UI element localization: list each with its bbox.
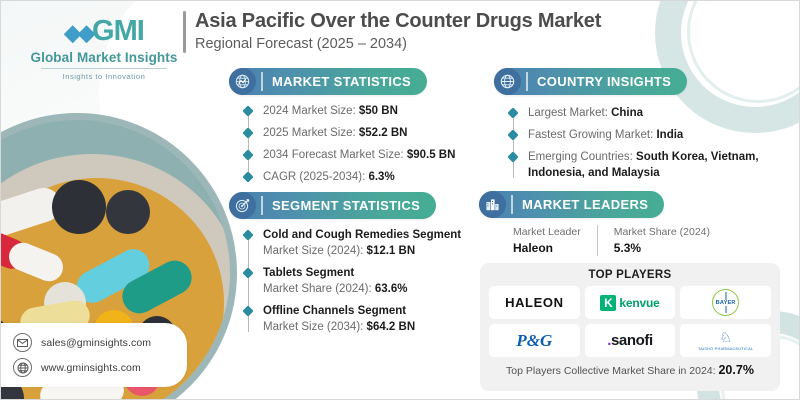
list-item: Fastest Growing Market: India bbox=[509, 127, 775, 143]
player-name-kenvue: kenvue bbox=[619, 296, 659, 310]
badge-separator bbox=[511, 195, 513, 214]
contact-email-row[interactable]: sales@gminsights.com bbox=[13, 330, 187, 355]
section-label-country-insights: COUNTRY INSIGHTS bbox=[537, 74, 671, 89]
country-insights-list: Largest Market: China Fastest Growing Ma… bbox=[509, 105, 775, 187]
segment-heading: Cold and Cough Remedies Segment bbox=[263, 227, 474, 243]
market-leaders-table: Market Leader Haleon Market Share (2024)… bbox=[513, 225, 726, 256]
stat-value: $90.5 BN bbox=[407, 149, 456, 161]
globe-icon bbox=[494, 68, 521, 95]
list-item: 2025 Market Size: $52.2 BN bbox=[244, 125, 494, 141]
list-item: Largest Market: China bbox=[509, 105, 775, 121]
top-players-title: TOP PLAYERS bbox=[489, 269, 771, 281]
stat-label: 2034 Forecast Market Size: bbox=[263, 149, 407, 161]
section-badge-market-statistics: MARKET STATISTICS bbox=[229, 68, 427, 95]
segment-heading: Tablets Segment bbox=[263, 265, 474, 281]
player-name-bayer: BAYER bbox=[715, 300, 737, 306]
section-label-segment-statistics: SEGMENT STATISTICS bbox=[272, 198, 420, 213]
top-players-footer: Top Players Collective Market Share in 2… bbox=[489, 363, 771, 377]
collective-share-label: Top Players Collective Market Share in 2… bbox=[506, 365, 718, 377]
section-badge-country-insights: COUNTRY INSIGHTS bbox=[494, 68, 687, 95]
page-title: Asia Pacific Over the Counter Drugs Mark… bbox=[195, 10, 601, 33]
stat-label: 2024 Market Size: bbox=[263, 105, 359, 117]
badge-separator bbox=[526, 72, 528, 91]
bayer-cross-icon: BAYER bbox=[712, 289, 739, 316]
player-logo-haleon[interactable]: HALEON bbox=[489, 286, 580, 319]
stat-value: $50 BN bbox=[359, 105, 398, 117]
globe-icon bbox=[13, 358, 32, 377]
segment-value: 63.6% bbox=[375, 283, 408, 295]
decorative-ring-top-right-inner bbox=[687, 0, 800, 103]
list-item: Offline Channels Segment Market Size (20… bbox=[244, 303, 474, 335]
list-item: Tablets Segment Market Share (2024): 63.… bbox=[244, 265, 474, 297]
section-badge-segment-statistics: SEGMENT STATISTICS bbox=[229, 192, 436, 219]
target-segment-icon bbox=[229, 192, 256, 219]
player-logo-pg[interactable]: P&G bbox=[489, 324, 580, 357]
country-value: China bbox=[611, 107, 643, 119]
segment-heading: Offline Channels Segment bbox=[263, 303, 474, 319]
stat-value: 6.3% bbox=[368, 171, 394, 183]
logo-tagline: Insights to Innovation bbox=[19, 72, 189, 81]
contact-strip: sales@gminsights.com www.gminsights.com bbox=[1, 323, 187, 387]
list-item: CAGR (2025-2034): 6.3% bbox=[244, 169, 494, 185]
list-item: 2034 Forecast Market Size: $90.5 BN bbox=[244, 147, 494, 163]
taisho-wings-icon: ♘ bbox=[719, 329, 732, 345]
logo-mark: ◆◆GMI bbox=[19, 17, 189, 46]
contact-website-text: www.gminsights.com bbox=[41, 362, 141, 374]
player-logo-sanofi[interactable]: .sanofi bbox=[585, 324, 676, 357]
list-item: 2024 Market Size: $50 BN bbox=[244, 103, 494, 119]
market-leader-value: Haleon bbox=[513, 240, 581, 256]
company-logo: ◆◆GMI Global Market Insights Insights to… bbox=[19, 17, 189, 81]
segment-value: $12.1 BN bbox=[367, 245, 416, 257]
logo-diamond-icon: ◆◆ bbox=[64, 20, 92, 45]
top-players-panel: TOP PLAYERS HALEON K kenvue BAYER P&G .s… bbox=[480, 263, 780, 391]
segment-value: $64.2 BN bbox=[367, 321, 416, 333]
contact-email-text: sales@gminsights.com bbox=[41, 337, 151, 349]
market-share-header: Market Share (2024) bbox=[614, 225, 710, 240]
envelope-icon bbox=[13, 333, 32, 352]
top-players-grid: HALEON K kenvue BAYER P&G .sanofi bbox=[489, 286, 771, 357]
country-label: Largest Market: bbox=[528, 107, 611, 119]
badge-separator bbox=[261, 196, 263, 215]
market-statistics-list: 2024 Market Size: $50 BN 2025 Market Siz… bbox=[244, 103, 494, 191]
market-share-column: Market Share (2024) 5.3% bbox=[597, 225, 726, 256]
stat-label: 2025 Market Size: bbox=[263, 127, 359, 139]
kenvue-mark-icon: K bbox=[600, 295, 616, 311]
city-buildings-icon bbox=[479, 191, 506, 218]
country-value: India bbox=[656, 129, 683, 141]
market-leader-column: Market Leader Haleon bbox=[513, 225, 597, 256]
player-name-haleon: HALEON bbox=[505, 295, 564, 310]
logo-company-name: Global Market Insights bbox=[19, 50, 189, 65]
globe-chart-icon bbox=[229, 68, 256, 95]
player-logo-taisho[interactable]: ♘ TAISHO PHARMACEUTICAL bbox=[680, 324, 771, 357]
stat-value: $52.2 BN bbox=[359, 127, 408, 139]
page-subtitle: Regional Forecast (2025 – 2034) bbox=[195, 36, 407, 52]
section-label-market-leaders: MARKET LEADERS bbox=[522, 197, 648, 212]
collective-share-value: 20.7% bbox=[718, 363, 753, 377]
list-item: Cold and Cough Remedies Segment Market S… bbox=[244, 227, 474, 259]
player-name-sanofi: sanofi bbox=[611, 332, 653, 349]
country-label: Emerging Countries: bbox=[528, 151, 636, 163]
contact-website-row[interactable]: www.gminsights.com bbox=[13, 355, 187, 380]
section-label-market-statistics: MARKET STATISTICS bbox=[272, 74, 411, 89]
stat-label: CAGR (2025-2034): bbox=[263, 171, 368, 183]
segment-label: Market Size (2024): bbox=[263, 245, 367, 257]
market-share-value: 5.3% bbox=[614, 240, 710, 256]
market-leader-header: Market Leader bbox=[513, 225, 581, 240]
segment-label: Market Size (2034): bbox=[263, 321, 367, 333]
segment-statistics-list: Cold and Cough Remedies Segment Market S… bbox=[244, 227, 474, 341]
player-logo-bayer[interactable]: BAYER bbox=[680, 286, 771, 319]
player-name-taisho: TAISHO PHARMACEUTICAL bbox=[698, 347, 753, 351]
infographic-canvas: ◆◆GMI Global Market Insights Insights to… bbox=[0, 0, 800, 400]
player-name-pg: P&G bbox=[516, 331, 552, 351]
logo-divider bbox=[41, 68, 167, 69]
badge-separator bbox=[261, 72, 263, 91]
player-logo-kenvue[interactable]: K kenvue bbox=[585, 286, 676, 319]
section-badge-market-leaders: MARKET LEADERS bbox=[479, 191, 664, 218]
country-label: Fastest Growing Market: bbox=[528, 129, 656, 141]
logo-mark-text: GMI bbox=[92, 15, 144, 47]
segment-label: Market Share (2024): bbox=[263, 283, 375, 295]
list-item: Emerging Countries: South Korea, Vietnam… bbox=[509, 149, 775, 181]
